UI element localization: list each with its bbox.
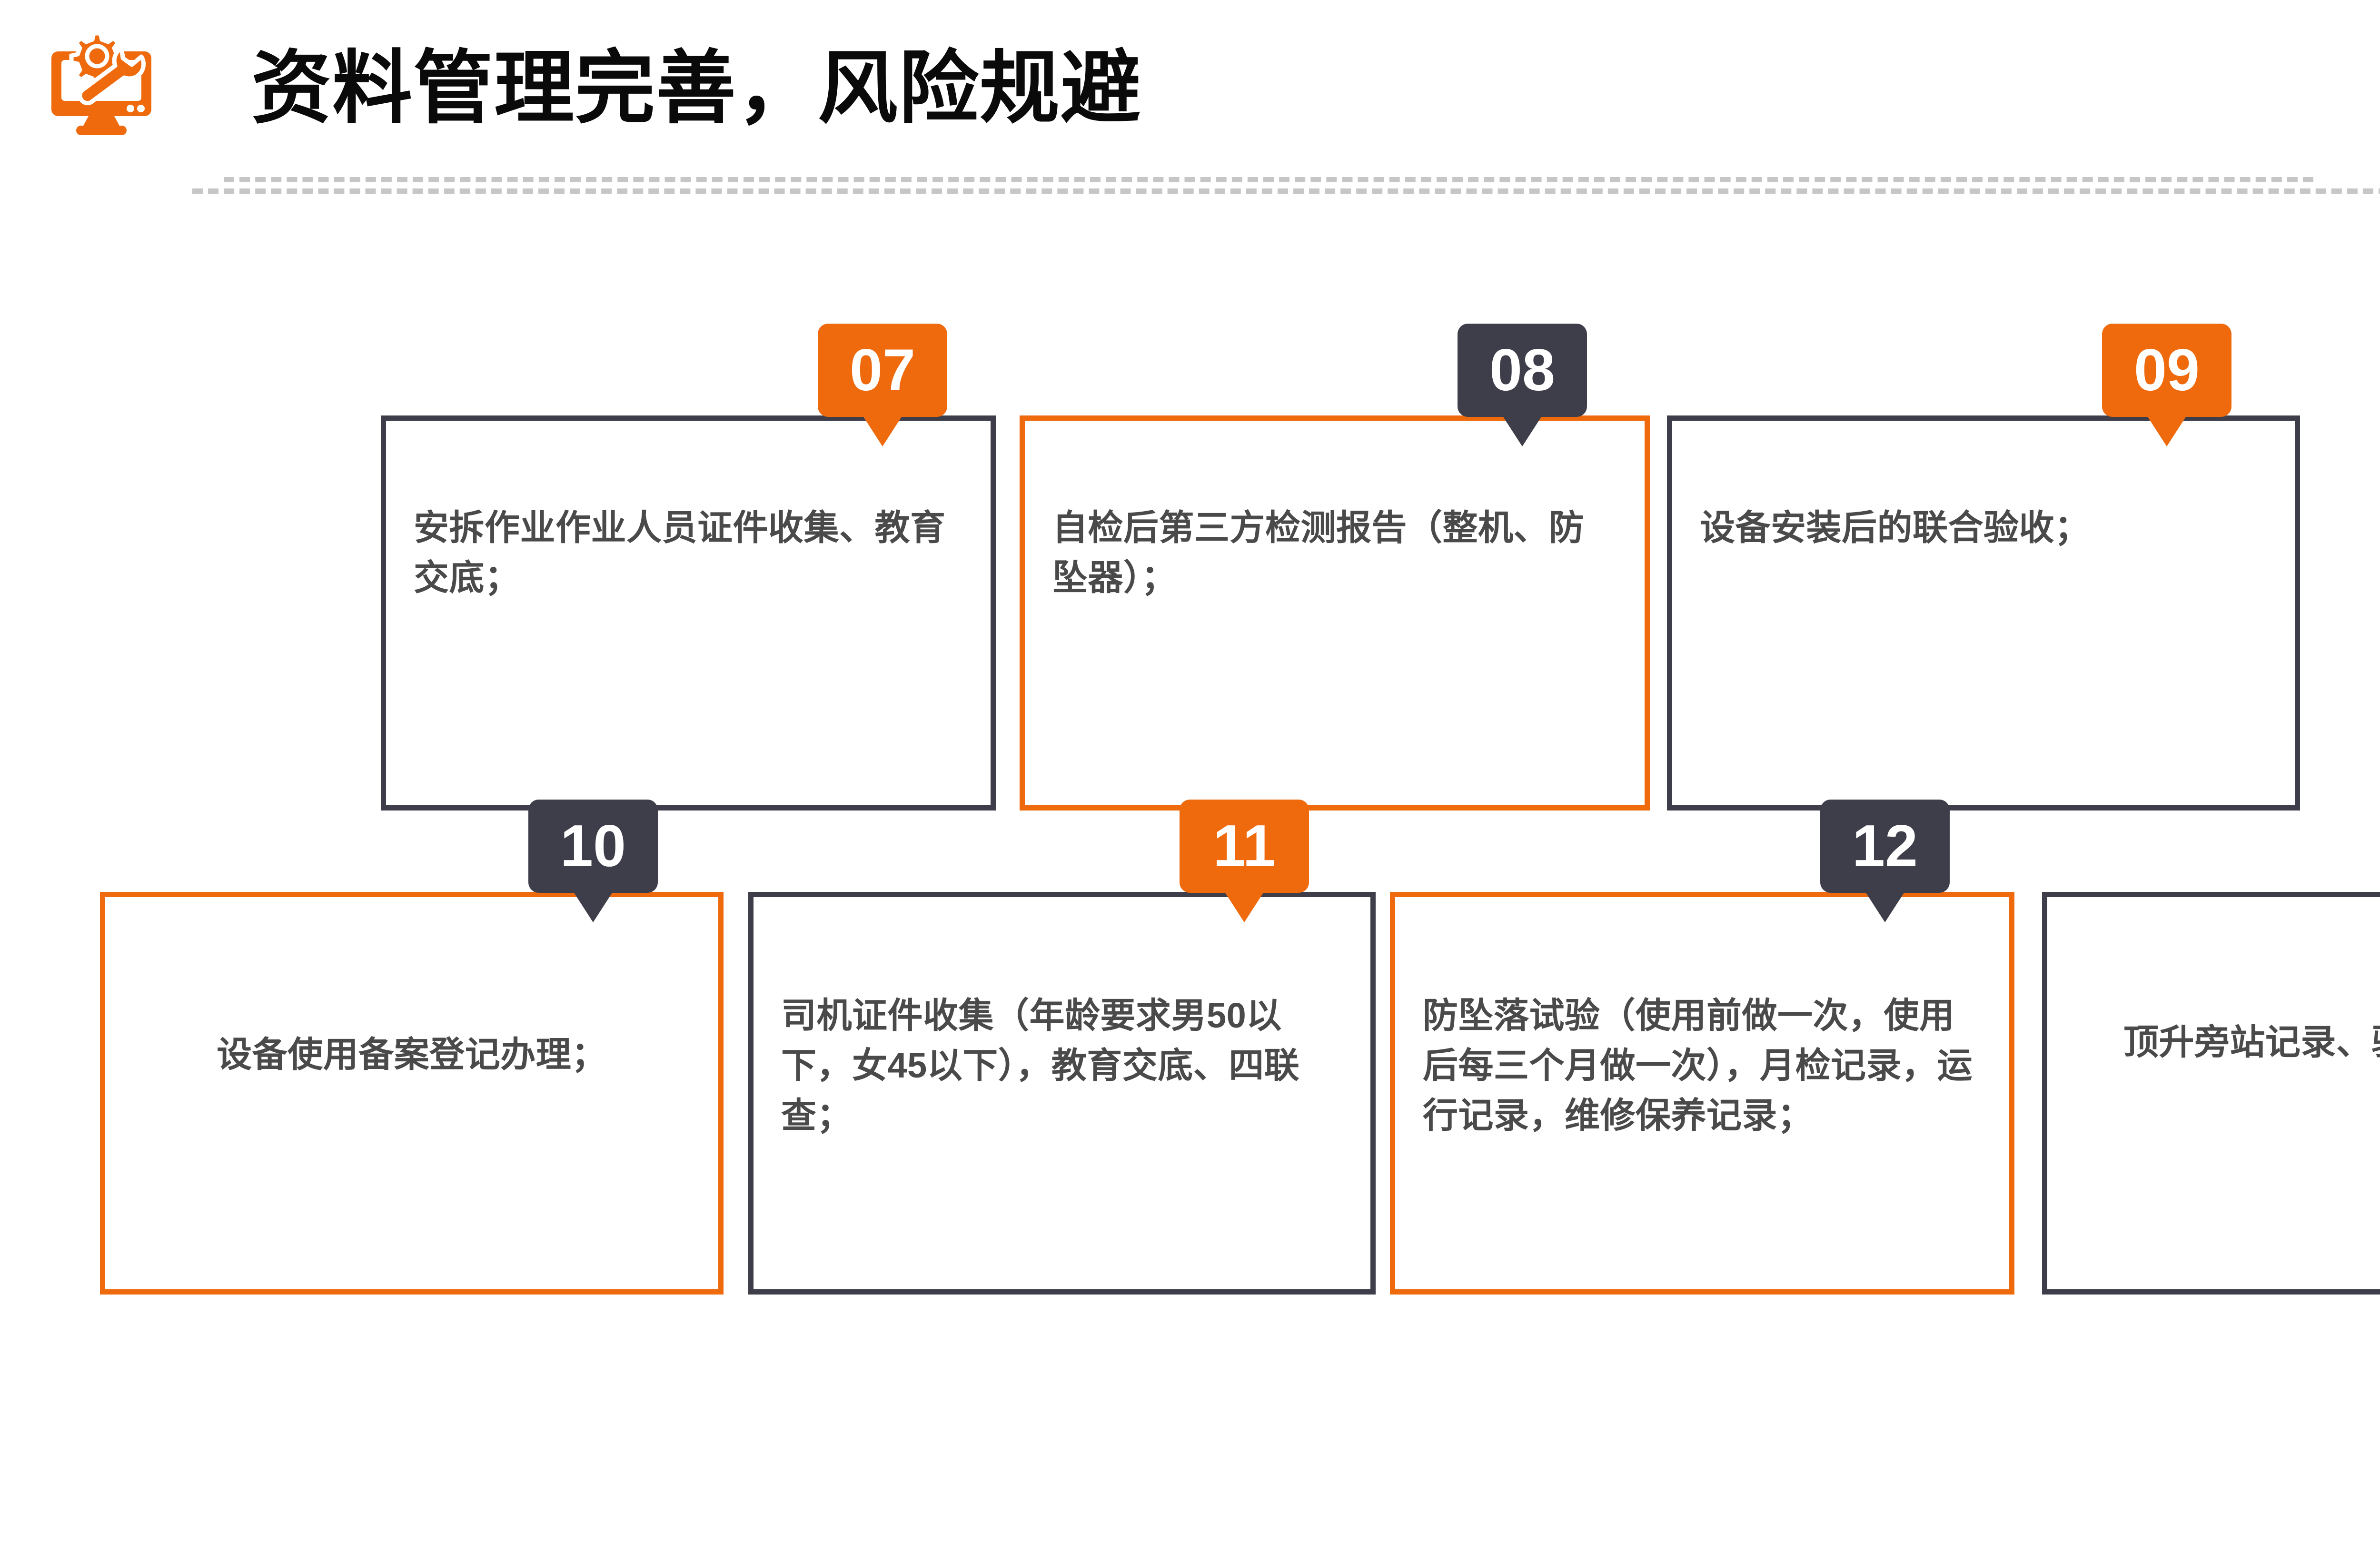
info-card-08-number: 08 (1489, 341, 1555, 400)
info-card-10[interactable]: 设备使用备案登记办理； (100, 892, 724, 1295)
monitor-gear-wrench-icon (51, 30, 151, 135)
info-card-07[interactable]: 安拆作业作业人员证件收集、教育交底； (381, 415, 996, 811)
header-divider-lower (192, 188, 2380, 194)
info-card-11-badge: 11 (1180, 800, 1309, 893)
info-card-11[interactable]: 司机证件收集（年龄要求男50以下，女45以下），教育交底、四联查； (748, 892, 1376, 1295)
info-card-10-text: 设备使用备案登记办理； (133, 1029, 691, 1079)
page-title: 资料管理完善，风险规避 (251, 38, 1141, 138)
info-card-09-badge: 09 (2102, 324, 2231, 417)
info-card-11-number: 11 (1213, 817, 1275, 876)
info-card-10-number: 10 (560, 817, 626, 876)
info-card-12[interactable]: 防坠落试验（使用前做一次，使用后每三个月做一次），月检记录，运行记录，维修保养记… (1390, 892, 2014, 1295)
info-card-07-text: 安拆作业作业人员证件收集、教育交底； (414, 503, 963, 603)
info-card-09[interactable]: 设备安装后的联合验收； (1667, 415, 2300, 811)
info-card-07-badge: 07 (818, 324, 947, 417)
info-card-08[interactable]: 自检后第三方检测报告（整机、防坠器）； (1020, 415, 1650, 811)
info-card-13[interactable]: 顶升旁站记录、验收记录等。 (2042, 892, 2380, 1295)
info-card-08-text: 自检后第三方检测报告（整机、防坠器）； (1052, 503, 1617, 603)
info-card-11-text: 司机证件收集（年龄要求男50以下，女45以下），教育交底、四联查； (781, 990, 1343, 1140)
info-card-09-text: 设备安装后的联合验收； (1700, 503, 2267, 553)
info-card-10-badge: 10 (528, 800, 658, 893)
info-card-08-badge: 08 (1458, 324, 1587, 417)
page-header: 资料管理完善，风险规避 (0, 0, 2380, 209)
info-card-12-number: 12 (1852, 817, 1918, 876)
info-card-13-text: 顶升旁站记录、验收记录等。 (2123, 1017, 2380, 1067)
info-card-07-number: 07 (850, 341, 915, 400)
info-card-12-text: 防坠落试验（使用前做一次，使用后每三个月做一次），月检记录，运行记录，维修保养记… (1423, 990, 1982, 1140)
info-card-09-number: 09 (2134, 341, 2200, 400)
header-divider-upper (224, 177, 2313, 182)
info-card-12-badge: 12 (1820, 800, 1950, 893)
